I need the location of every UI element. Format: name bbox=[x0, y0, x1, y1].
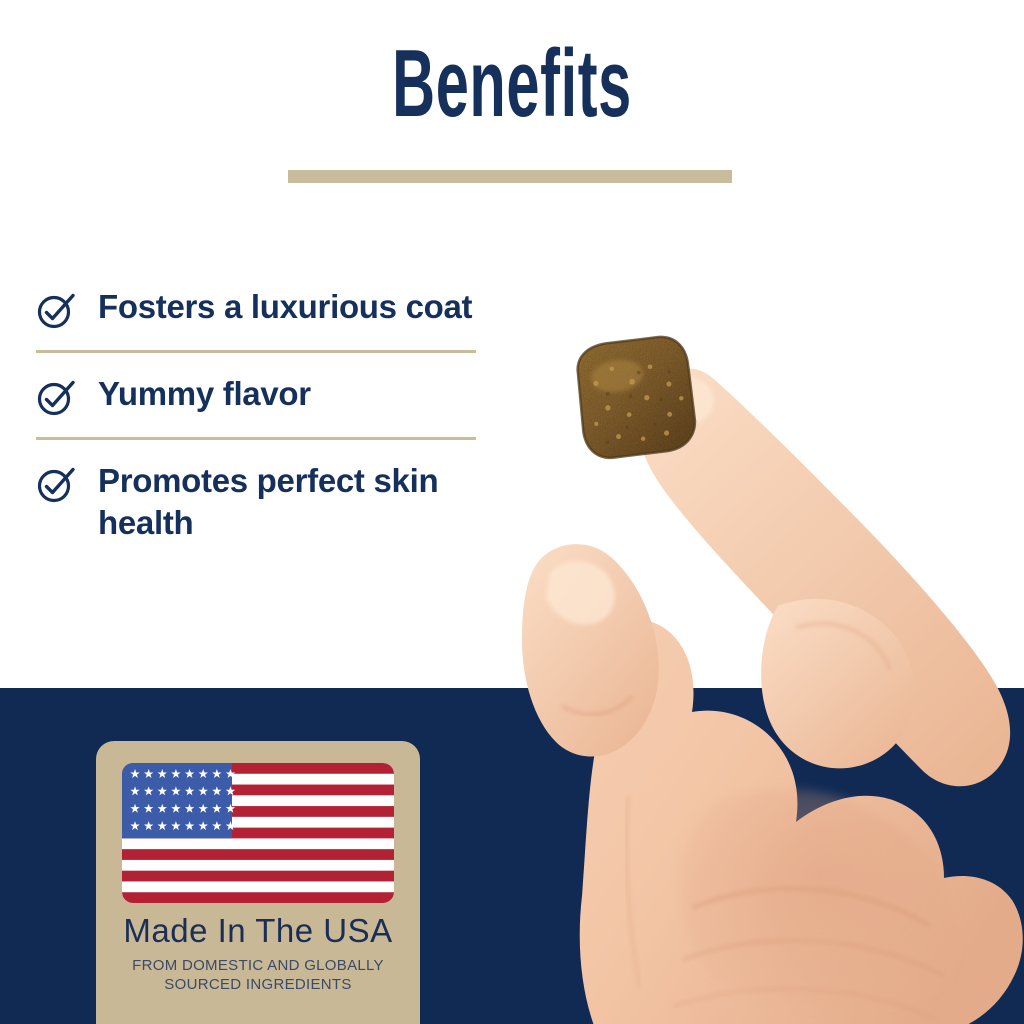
made-in-usa-title: Made In The USA bbox=[96, 913, 420, 949]
product-benefits-graphic: Benefits Fosters a luxurious coat Yummy … bbox=[0, 0, 1024, 1024]
check-circle-icon bbox=[36, 464, 76, 504]
benefit-label: Yummy flavor bbox=[98, 373, 311, 415]
hand-holding-treat-image bbox=[478, 276, 1024, 1024]
benefits-list: Fosters a luxurious coat Yummy flavor Pr… bbox=[36, 286, 481, 544]
benefit-item-1: Fosters a luxurious coat bbox=[36, 286, 481, 330]
benefit-item-2: Yummy flavor bbox=[36, 373, 481, 417]
us-flag-icon bbox=[122, 763, 394, 903]
benefit-label: Fosters a luxurious coat bbox=[98, 286, 472, 328]
benefit-label: Promotes perfect skin health bbox=[98, 460, 481, 544]
benefit-divider-1 bbox=[36, 350, 476, 353]
subtitle-line-2: SOURCED INGREDIENTS bbox=[96, 975, 420, 994]
title-underline-rule bbox=[288, 170, 732, 183]
check-circle-icon bbox=[36, 377, 76, 417]
subtitle-line-1: FROM DOMESTIC AND GLOBALLY bbox=[96, 956, 420, 975]
check-circle-icon bbox=[36, 290, 76, 330]
page-title: Benefits bbox=[195, 36, 830, 132]
made-in-usa-badge: Made In The USA FROM DOMESTIC AND GLOBAL… bbox=[96, 741, 420, 1024]
benefit-divider-2 bbox=[36, 437, 476, 440]
benefit-item-3: Promotes perfect skin health bbox=[36, 460, 481, 544]
made-in-usa-subtitle: FROM DOMESTIC AND GLOBALLY SOURCED INGRE… bbox=[96, 956, 420, 994]
